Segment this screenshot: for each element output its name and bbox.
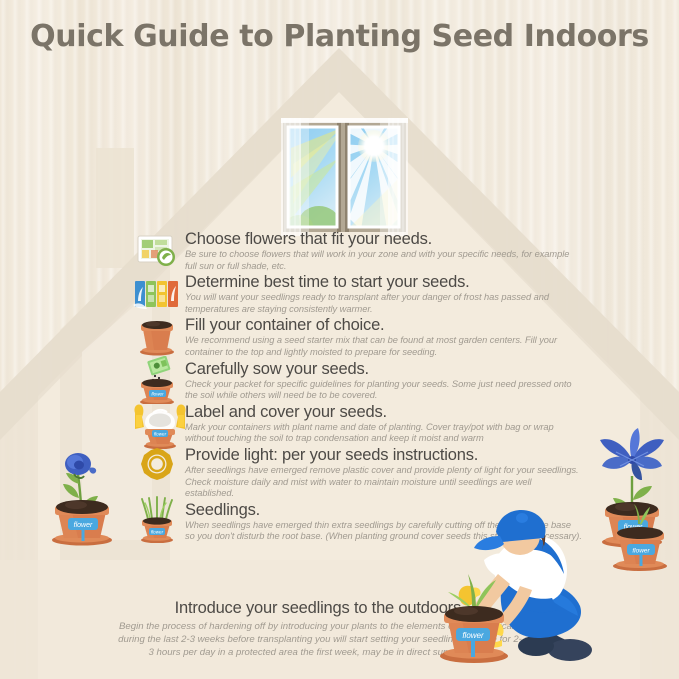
step-body: Mark your containers with plant name and… bbox=[185, 422, 583, 445]
svg-text:flower: flower bbox=[154, 431, 167, 436]
step-body: Check your packet for specific guideline… bbox=[185, 379, 583, 402]
step-body: Be sure to choose flowers that will work… bbox=[185, 249, 583, 272]
svg-text:flower: flower bbox=[151, 529, 164, 534]
infographic-poster: Quick Guide to Planting Seed Indoors bbox=[0, 0, 679, 679]
svg-text:flower: flower bbox=[74, 522, 93, 529]
potted-blue-rose: flower bbox=[38, 412, 130, 547]
step-item: Fill your container of choice. We recomm… bbox=[133, 316, 583, 358]
step-item: flower Label and cover your seeds. Mark … bbox=[133, 403, 583, 445]
step-title: Carefully sow your seeds. bbox=[185, 360, 583, 379]
step-body: You will want your seedlings ready to tr… bbox=[185, 292, 583, 315]
step-title: Fill your container of choice. bbox=[185, 316, 583, 335]
svg-text:flower: flower bbox=[151, 391, 164, 396]
seed-catalog-icon bbox=[133, 230, 181, 278]
sunny-window-illustration bbox=[281, 118, 408, 236]
step-body: After seedlings have emerged remove plas… bbox=[185, 465, 583, 500]
step-body: We recommend using a seed starter mix th… bbox=[185, 335, 583, 358]
steps-list: Choose flowers that fit your needs. Be s… bbox=[133, 230, 583, 544]
title-band: Quick Guide to Planting Seed Indoors bbox=[0, 0, 679, 72]
seedlings-pot-icon: flower bbox=[133, 491, 181, 539]
sun-ring-icon bbox=[133, 446, 181, 494]
step-title: Choose flowers that fit your needs. bbox=[185, 230, 583, 249]
gloves-covering-pot-icon: flower bbox=[133, 397, 187, 445]
step-item: flower Carefully sow your seeds. Check y… bbox=[133, 360, 583, 402]
page-title: Quick Guide to Planting Seed Indoors bbox=[30, 19, 649, 54]
step-title: Label and cover your seeds. bbox=[185, 403, 583, 422]
kneeling-gardener-illustration: flower bbox=[440, 498, 630, 679]
step-title: Determine best time to start your seeds. bbox=[185, 273, 583, 292]
step-title: Provide light: per your seeds instructio… bbox=[185, 446, 583, 465]
svg-text:flower: flower bbox=[462, 631, 484, 640]
step-item: Determine best time to start your seeds.… bbox=[133, 273, 583, 315]
step-item: Choose flowers that fit your needs. Be s… bbox=[133, 230, 583, 272]
step-item: Provide light: per your seeds instructio… bbox=[133, 446, 583, 500]
svg-text:flower: flower bbox=[632, 548, 650, 555]
